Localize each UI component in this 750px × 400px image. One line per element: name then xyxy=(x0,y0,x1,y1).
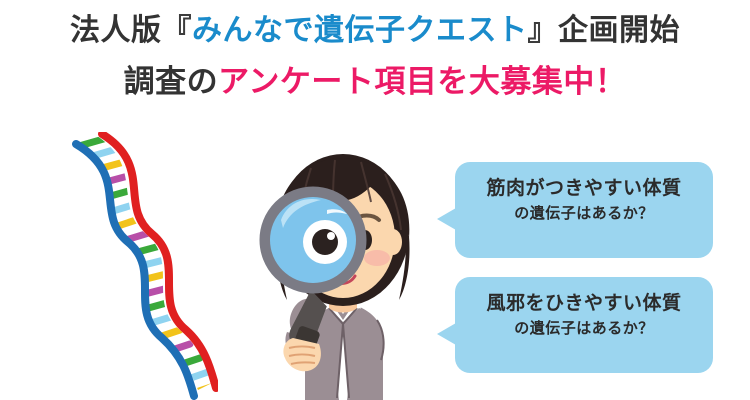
speech-bubble-2: 風邪をひきやすい体質 の遺伝子はあるか？ xyxy=(455,277,713,373)
headline-emphasis-blue: みんなで遺伝子クエスト xyxy=(192,14,528,47)
dna-double-helix-icon xyxy=(58,132,218,400)
bubble-1-line-2: の遺伝子はあるか？ xyxy=(465,202,703,226)
bubble-2-line-1: 風邪をひきやすい体質 xyxy=(465,291,703,317)
headline-suffix: 企画開始 xyxy=(558,14,680,47)
bracket-close: 』 xyxy=(528,14,559,47)
headline-line-2: 調査のアンケート項目を大募集中！ xyxy=(0,62,750,102)
woman-with-magnifying-glass-illustration xyxy=(243,142,443,400)
bubble-2-line-2: の遺伝子はあるか？ xyxy=(465,317,703,341)
headline-line-1: 法人版『みんなで遺伝子クエスト』企画開始 xyxy=(0,12,750,50)
headline-prefix: 法人版 xyxy=(70,14,162,47)
magnified-pupil xyxy=(312,229,338,255)
subheadline-emphasis-pink: アンケート項目を大募集中！ xyxy=(218,64,626,99)
promo-poster: 法人版『みんなで遺伝子クエスト』企画開始 調査のアンケート項目を大募集中！ xyxy=(0,0,750,400)
bubble-1-line-1: 筋肉がつきやすい体質 xyxy=(465,176,703,202)
subheadline-prefix: 調査の xyxy=(124,64,219,99)
speech-bubble-1: 筋肉がつきやすい体質 の遺伝子はあるか？ xyxy=(455,162,713,258)
bracket-open: 『 xyxy=(162,14,193,47)
bubble-tail-2 xyxy=(437,323,456,345)
bubble-tail-1 xyxy=(437,208,456,230)
